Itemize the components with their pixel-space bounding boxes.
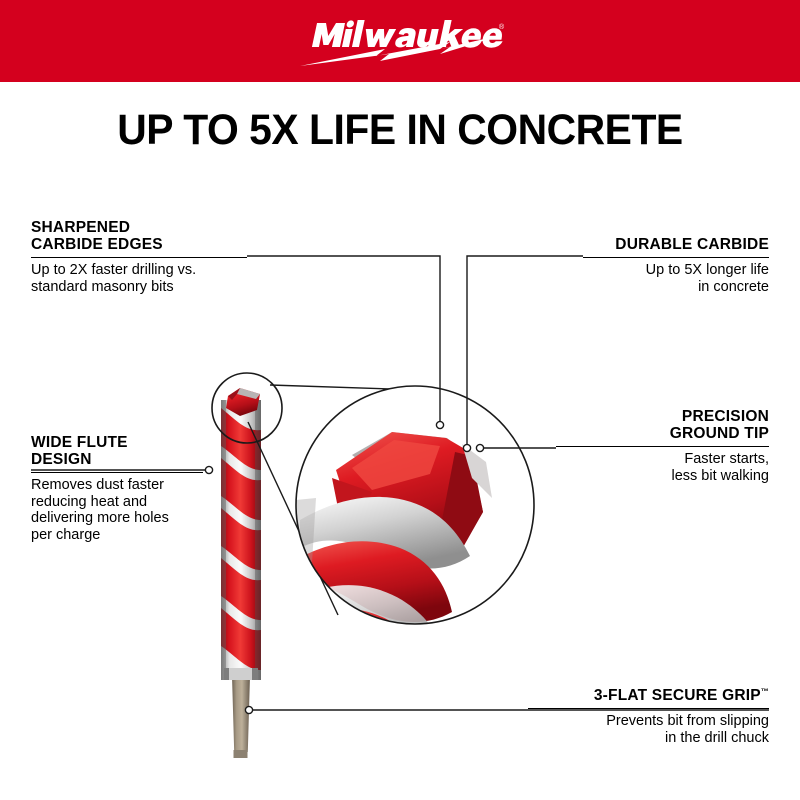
magnifier-connector-bottom [248, 422, 338, 615]
trademark-symbol: ™ [761, 687, 769, 696]
drill-bit-flutes [221, 400, 261, 680]
callout-body: Prevents bit from slipping in the drill … [528, 713, 769, 746]
callout-divider [583, 257, 769, 258]
callout-heading-text: 3-FLAT SECURE GRIP [594, 687, 761, 704]
callout-body: Removes dust faster reducing heat and de… [31, 477, 203, 543]
infographic-page: ® UP TO 5X LIFE IN CONCRETE [0, 0, 800, 800]
magnifier-source-circle [212, 373, 282, 443]
callout-heading: WIDE FLUTE DESIGN [31, 434, 203, 468]
callout-divider [528, 708, 769, 709]
callout-body: Up to 2X faster drilling vs. standard ma… [31, 262, 247, 295]
callout-wide-flute-design: WIDE FLUTE DESIGN Removes dust faster re… [31, 434, 203, 543]
registered-mark: ® [499, 23, 505, 31]
callout-divider [31, 472, 203, 473]
callout-divider [556, 446, 769, 447]
callout-divider [31, 257, 247, 258]
callout-heading: DURABLE CARBIDE [583, 236, 769, 253]
callout-heading: PRECISION GROUND TIP [556, 408, 769, 442]
callout-body: Up to 5X longer life in concrete [583, 262, 769, 295]
magnifier-connector-top [270, 385, 390, 389]
callout-sharpened-carbide-edges: SHARPENED CARBIDE EDGES Up to 2X faster … [31, 219, 247, 295]
callout-heading: 3-FLAT SECURE GRIP™ [528, 683, 769, 704]
callout-durable-carbide: DURABLE CARBIDE Up to 5X longer life in … [583, 236, 769, 295]
callout-heading: SHARPENED CARBIDE EDGES [31, 219, 247, 253]
page-headline: UP TO 5X LIFE IN CONCRETE [20, 106, 780, 155]
milwaukee-lightning-logo-icon: ® [290, 9, 510, 73]
drill-bit-small [221, 388, 261, 758]
magnified-bit-detail [290, 384, 538, 676]
callout-three-flat-secure-grip: 3-FLAT SECURE GRIP™ Prevents bit from sl… [528, 683, 769, 746]
leader-precision-ground-tip [476, 444, 556, 451]
callout-precision-ground-tip: PRECISION GROUND TIP Faster starts, less… [556, 408, 769, 484]
leader-sharpened-carbide-edges [247, 256, 444, 429]
milwaukee-logo: ® [0, 0, 800, 82]
magnifier-lens-circle [296, 386, 534, 624]
callout-body: Faster starts, less bit walking [556, 451, 769, 484]
